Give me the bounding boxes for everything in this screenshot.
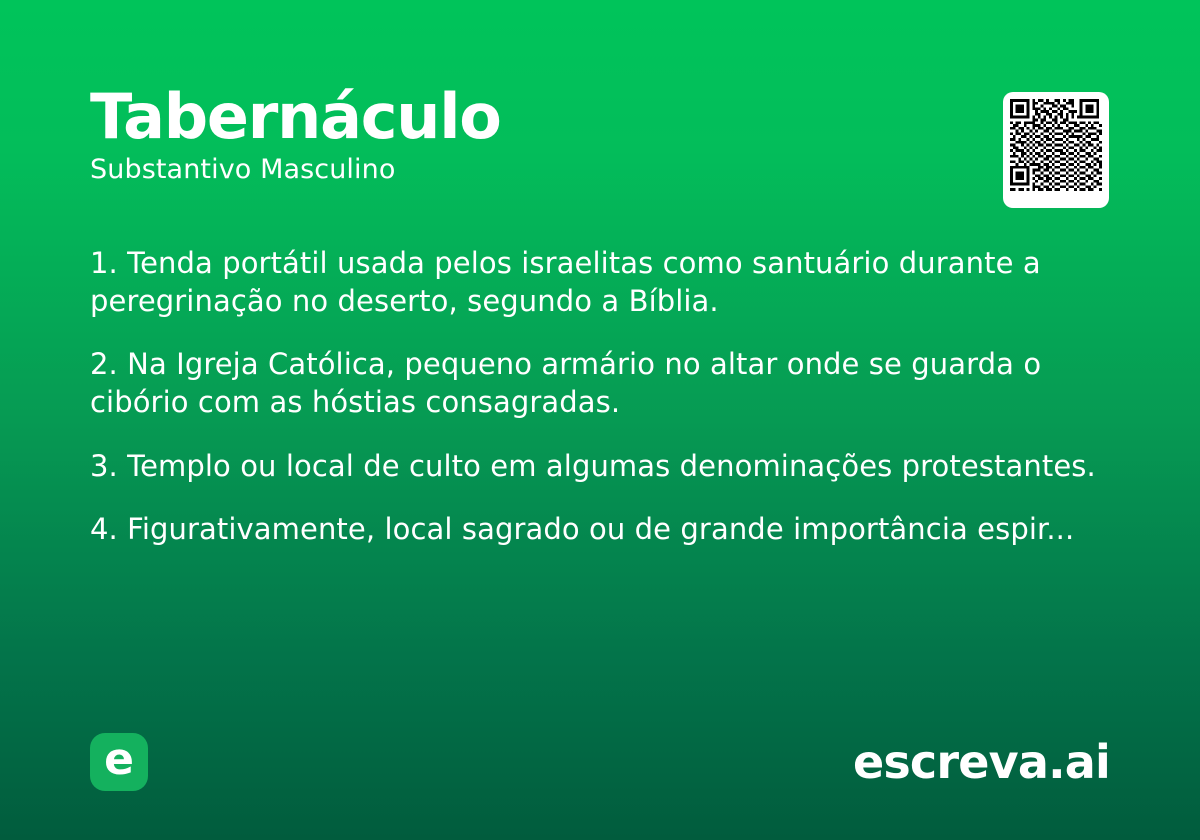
qr-code-icon[interactable] <box>1010 99 1102 191</box>
definition-item: 3. Templo ou local de culto em algumas d… <box>90 448 1105 486</box>
definition-item: 1. Tenda portátil usada pelos israelitas… <box>90 245 1105 320</box>
dictionary-card: Tabernáculo Substantivo Masculino 1. Ten… <box>0 0 1200 840</box>
brand-wordmark: escreva.ai <box>853 739 1110 785</box>
card-header: Tabernáculo Substantivo Masculino <box>90 84 1110 185</box>
logo-mark: e <box>90 733 148 791</box>
logo-letter: e <box>104 738 134 782</box>
card-footer: e escreva.ai <box>90 732 1110 792</box>
page-title: Tabernáculo <box>90 84 1110 149</box>
definition-list: 1. Tenda portátil usada pelos israelitas… <box>90 245 1105 549</box>
part-of-speech-label: Substantivo Masculino <box>90 155 1110 185</box>
definition-item: 2. Na Igreja Católica, pequeno armário n… <box>90 346 1105 421</box>
qr-code-panel[interactable] <box>1003 92 1109 208</box>
definition-item: 4. Figurativamente, local sagrado ou de … <box>90 511 1105 549</box>
